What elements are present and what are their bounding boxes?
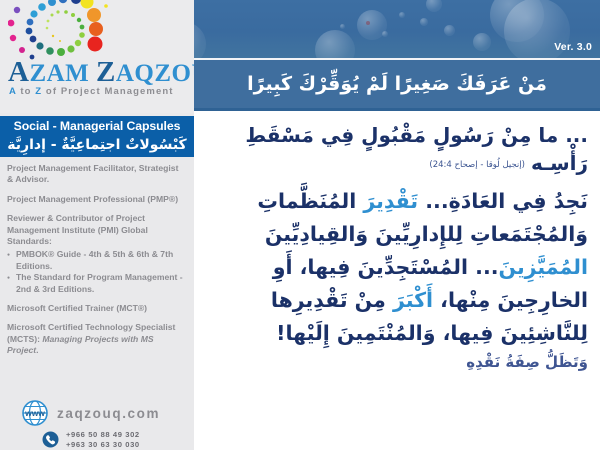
decorative-bubble	[473, 33, 491, 51]
globe-www-icon: www	[22, 400, 48, 426]
standards-bullet-list: PMBOK® Guide - 4th & 5th & 6th & 7th Edi…	[7, 249, 187, 295]
standards-bullet-pmbok: PMBOK® Guide - 4th & 5th & 6th & 7th Edi…	[7, 249, 187, 272]
phone-number-primary: +966 50 88 49 302	[66, 430, 140, 440]
paragraph-highlight-akbar: أَكْبَرَ	[393, 288, 433, 312]
wordmark-aqzouq: AQZOUQ	[116, 60, 194, 87]
scripture-verse: ... ما مِنْ رَسُولٍ مَقْبُولٍ فِي مَسْقَ…	[204, 121, 588, 179]
brand-logo-block[interactable]: AZAM ZAQZOUQ A to Z of Project Managemen…	[0, 0, 194, 113]
mcts-suffix: .	[36, 345, 38, 355]
brand-wordmark: AZAM ZAQZOUQ	[8, 58, 188, 87]
header-hero-banner: Ver. 3.0	[194, 0, 600, 58]
decorative-bubble	[315, 30, 355, 58]
decorative-bubble	[444, 25, 455, 36]
main-content: ... ما مِنْ رَسُولٍ مَقْبُولٍ فِي مَسْقَ…	[194, 111, 600, 450]
credentials-list: Project Management Facilitator, Strategi…	[7, 163, 187, 365]
tagline-to: to	[17, 86, 36, 97]
website-url[interactable]: zaqzouq.com	[57, 406, 160, 421]
paragraph-highlight-taqdeer: تَقْدِيرَ	[363, 189, 418, 213]
verse-citation: (إنجيل لُوقا - إصحاح 24:4)	[429, 160, 525, 170]
header-quote-text: مَنْ عَرَفَكَ صَغِيرًا لَمْ يُوَقِّرْكَ …	[247, 73, 547, 95]
sidebar-title-band: Social - Managerial Capsules كَبْسُولاتٌ…	[0, 116, 194, 157]
wordmark-z: Z	[96, 56, 116, 88]
decorative-bubble	[340, 24, 345, 29]
paragraph-clipped-tail: وَتَظَلُّ صِفَةُ نَقْدِهِ	[204, 352, 588, 372]
website-row[interactable]: www zaqzouq.com	[22, 400, 160, 426]
credential-item-mct: Microsoft Certified Trainer (MCT®)	[7, 303, 187, 314]
paragraph-highlight-mumayyazeen: المُمَيَّزِينَ	[499, 255, 588, 279]
sidebar-title-ar: كَبْسُولاتٌ اجتِماعِيَّةٌ - إدارِيَّة	[0, 135, 194, 155]
credential-item-facilitator: Project Management Facilitator, Strategi…	[7, 163, 187, 186]
tagline-rest: of Project Management	[42, 86, 173, 97]
phone-numbers: +966 50 88 49 302 +963 30 63 30 030	[66, 430, 140, 449]
verse-text: ... ما مِنْ رَسُولٍ مَقْبُولٍ فِي مَسْقَ…	[245, 123, 588, 175]
wordmark-zam: ZAM	[29, 60, 96, 87]
svg-text:www: www	[24, 408, 45, 418]
phone-number-secondary: +963 30 63 30 030	[66, 440, 140, 450]
brand-tagline: A to Z of Project Management	[9, 86, 174, 97]
decorative-bubble	[399, 12, 405, 18]
wordmark-a: A	[8, 56, 29, 88]
phone-icon	[42, 431, 59, 448]
header-quote-band: مَنْ عَرَفَكَ صَغِيرًا لَمْ يُوَقِّرْكَ …	[194, 60, 600, 108]
decorative-bubble	[426, 0, 442, 12]
credential-item-mcts: Microsoft Certified Technology Specialis…	[7, 322, 187, 356]
phone-row: +966 50 88 49 302 +963 30 63 30 030	[42, 430, 140, 449]
capsule-poster: AZAM ZAQZOUQ A to Z of Project Managemen…	[0, 0, 600, 450]
paragraph-segment-1: نَجِدُ فِي العَادَةِ...	[418, 189, 588, 213]
credential-item-reviewer: Reviewer & Contributor of Project Manage…	[7, 213, 187, 247]
sidebar: AZAM ZAQZOUQ A to Z of Project Managemen…	[0, 0, 194, 450]
capsule-paragraph: نَجِدُ فِي العَادَةِ... تَقْدِيرَ المُنَ…	[204, 185, 588, 350]
credential-item-pmp: Project Management Professional (PMP®)	[7, 194, 187, 205]
tagline-a: A	[9, 86, 17, 97]
version-label: Ver. 3.0	[554, 41, 592, 53]
decorative-bubble	[366, 21, 370, 25]
decorative-bubble	[194, 22, 206, 58]
sidebar-title-en: Social - Managerial Capsules	[0, 119, 194, 134]
decorative-bubble	[382, 31, 388, 37]
color-dot-spiral-logo	[8, 0, 126, 60]
decorative-bubble	[420, 18, 428, 26]
standards-bullet-program: The Standard for Program Management - 2n…	[7, 272, 187, 295]
